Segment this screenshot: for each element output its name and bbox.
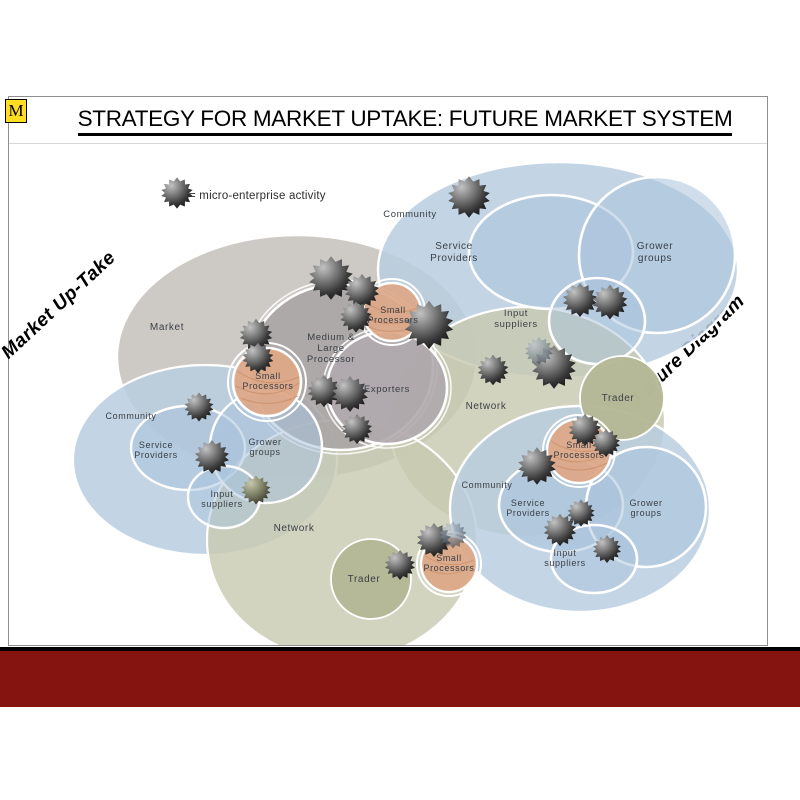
slide-marker-badge[interactable]: M [5, 99, 27, 123]
page-title-text: STRATEGY FOR MARKET UPTAKE: FUTURE MARKE… [78, 106, 733, 136]
page-title: STRATEGY FOR MARKET UPTAKE: FUTURE MARKE… [60, 106, 750, 132]
title-divider [9, 143, 767, 144]
shape-trader-bottom [331, 539, 411, 619]
starburst-icon-legend [161, 177, 192, 208]
footer-band [0, 647, 800, 707]
presentation-slide: M STRATEGY FOR MARKET UPTAKE: FUTURE MAR… [0, 0, 800, 800]
market-system-diagram [9, 145, 767, 645]
